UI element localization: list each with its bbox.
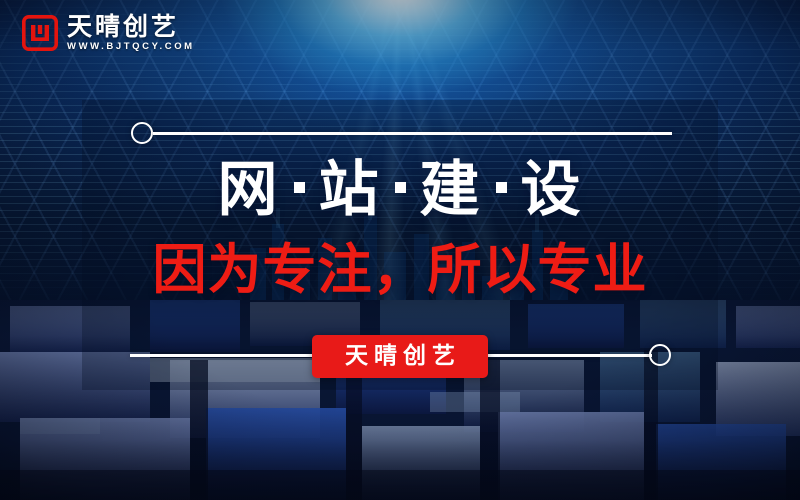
horizontal-rule-top bbox=[153, 132, 672, 135]
headline-char-2: 站 bbox=[319, 156, 381, 223]
page-title: 网站建设 bbox=[0, 160, 800, 220]
website-construction-banner: 天晴创艺 WWW.BJTQCY.COM 网站建设 因为专注，所以专业 天晴创艺 bbox=[0, 0, 800, 500]
logo-website-url: WWW.BJTQCY.COM bbox=[67, 42, 195, 52]
square-separator-icon-2 bbox=[395, 182, 406, 193]
logo-text-block: 天晴创艺 WWW.BJTQCY.COM bbox=[67, 14, 195, 53]
circle-outline-icon-bottom-right bbox=[649, 344, 671, 366]
circle-outline-icon-top-left bbox=[131, 122, 153, 144]
headline-char-4: 设 bbox=[521, 156, 583, 223]
square-separator-icon-1 bbox=[294, 182, 305, 193]
brand-badge[interactable]: 天晴创艺 bbox=[312, 335, 488, 378]
brand-logo[interactable]: 天晴创艺 WWW.BJTQCY.COM bbox=[22, 14, 195, 53]
page-subtitle: 因为专注，所以专业 bbox=[0, 243, 800, 297]
company-monogram-icon bbox=[22, 15, 58, 51]
square-separator-icon-3 bbox=[496, 182, 507, 193]
logo-company-name: 天晴创艺 bbox=[67, 14, 195, 40]
headline-char-3: 建 bbox=[420, 156, 482, 223]
headline-char-1: 网 bbox=[218, 156, 280, 223]
